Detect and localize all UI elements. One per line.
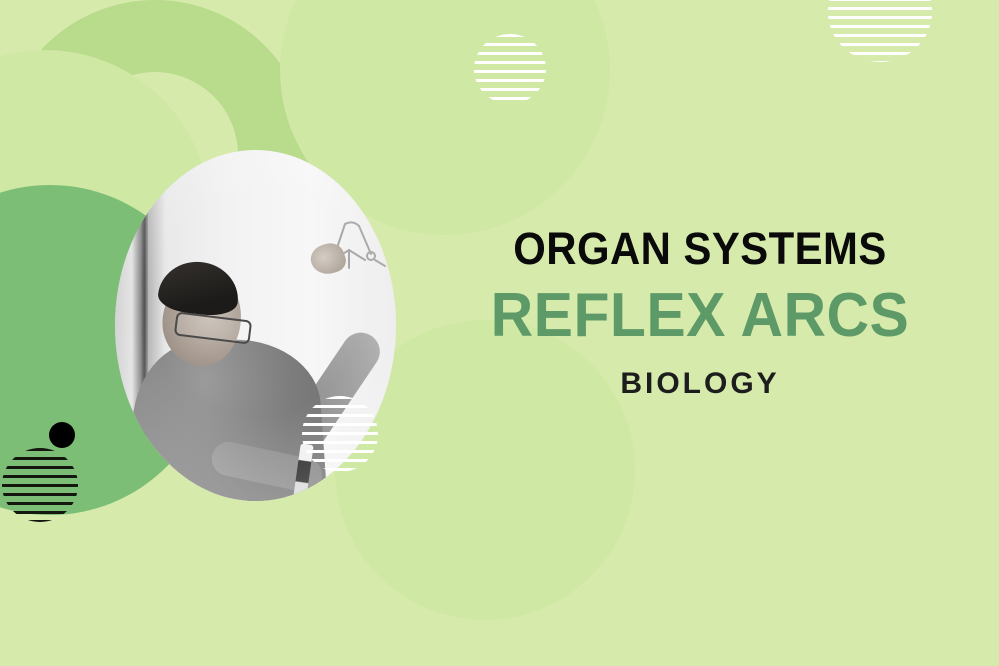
dot-bottom-left-icon <box>49 422 75 448</box>
striped-half-circle-top-right-icon <box>828 0 932 62</box>
striped-circle-bottom-left-icon <box>2 448 78 522</box>
striped-circle-middle-icon <box>302 396 378 472</box>
course-subject-label: BIOLOGY <box>460 369 940 399</box>
course-topic-title: REFLEX ARCS <box>472 285 928 347</box>
banner-text-block: ORGAN SYSTEMS REFLEX ARCS BIOLOGY <box>460 226 940 399</box>
course-banner: ORGAN SYSTEMS REFLEX ARCS BIOLOGY <box>0 0 999 666</box>
striped-circle-top-center-icon <box>474 34 546 104</box>
course-category-title: ORGAN SYSTEMS <box>477 226 923 271</box>
